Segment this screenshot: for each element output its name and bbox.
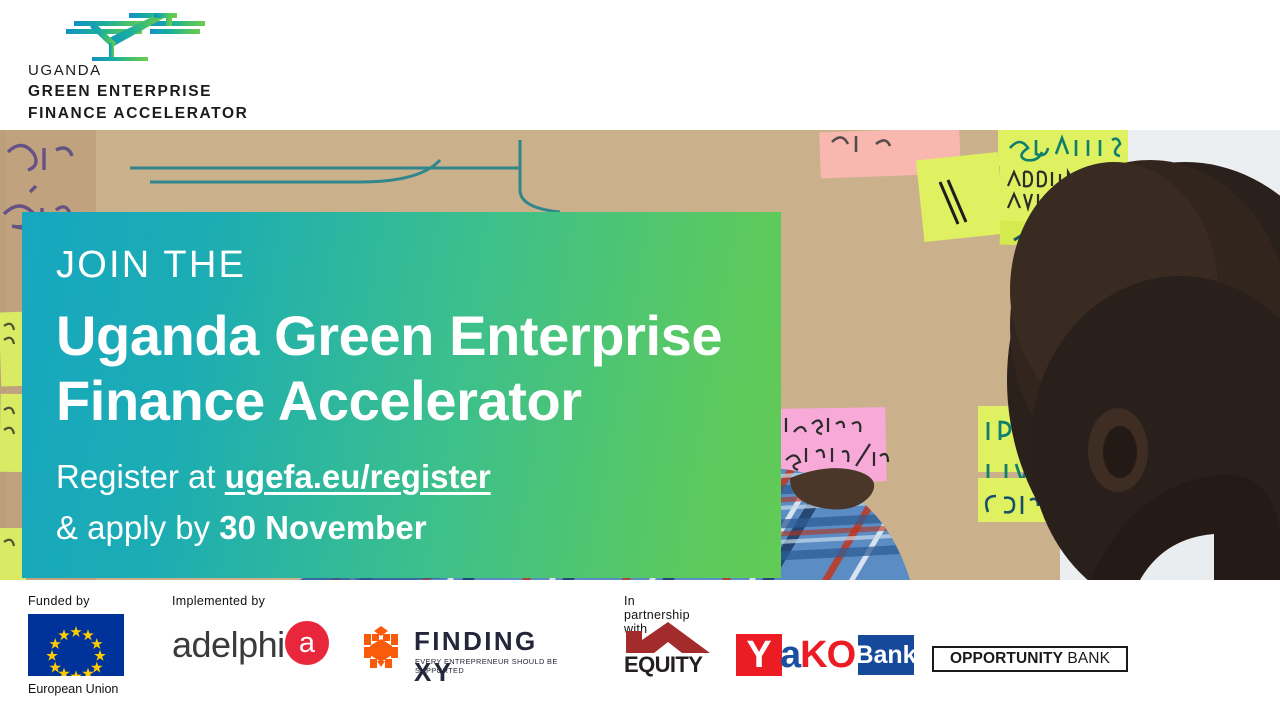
opportunity-bank-wordmark: OPPORTUNITY BANK (950, 650, 1110, 668)
apply-deadline-date: 30 November (219, 509, 426, 546)
opportunity-bank-logo[interactable]: OPPORTUNITY BANK (932, 646, 1128, 672)
panel-eyebrow: JOIN THE (56, 246, 747, 286)
register-prefix: Register at (56, 458, 225, 495)
finding-xy-cube-icon (358, 625, 404, 671)
equity-wordmark: EQUITY (624, 652, 702, 678)
yako-letter-y: Y (736, 634, 782, 676)
finding-xy-logo[interactable]: FINDING XY EVERY ENTREPRENEUR SHOULD BE … (358, 622, 573, 674)
ugefa-wordmark: UGANDA GREEN ENTERPRISE FINANCE ACCELERA… (28, 60, 260, 125)
equity-roof-icon (624, 620, 712, 653)
apply-prefix: & apply by (56, 509, 219, 546)
adelphi-badge-icon: a (285, 621, 329, 665)
funded-by-label: Funded by (28, 594, 168, 608)
opportunity-light-word: BANK (1063, 650, 1110, 667)
yako-letter-k: K (800, 634, 826, 676)
yako-bank-logo[interactable]: Y aKO Bank (736, 634, 914, 676)
yako-bank-word: Bank (858, 635, 914, 675)
campaign-overlay-panel: JOIN THE Uganda Green Enterprise Finance… (22, 212, 781, 578)
yako-red-block: Y (736, 634, 782, 676)
logo-line-green-enterprise: GREEN ENTERPRISE (28, 81, 260, 103)
register-url-link[interactable]: ugefa.eu/register (225, 458, 491, 495)
ugefa-tree-logo-icon (54, 12, 214, 64)
adelphi-wordmark: adelphi (172, 624, 285, 666)
yako-letters: aKO (780, 634, 855, 676)
panel-headline-line-1: Uganda Green Enterprise (56, 300, 747, 373)
adelphi-logo[interactable]: adelphi a (172, 620, 344, 668)
yako-letter-a: a (780, 634, 800, 676)
yako-blue-block: Bank (858, 635, 914, 675)
funded-by-block: Funded by European Uni (28, 594, 168, 608)
eu-stars (28, 614, 124, 676)
apply-deadline-line: & apply by 30 November (56, 504, 747, 553)
logo-line-finance-accelerator: FINANCE ACCELERATOR (28, 103, 260, 125)
equity-bank-logo[interactable]: EQUITY (624, 620, 712, 676)
implemented-by-block: Implemented by adelphi a (172, 594, 265, 608)
yako-letter-o: O (827, 634, 856, 676)
european-union-caption: European Union (28, 682, 118, 696)
finding-xy-tagline: EVERY ENTREPRENEUR SHOULD BE SUPPORTED (415, 657, 573, 675)
panel-headline-line-2: Finance Accelerator (56, 365, 747, 438)
implemented-by-label: Implemented by (172, 594, 265, 608)
adelphi-badge-letter: a (285, 621, 329, 665)
logo-line-uganda: UGANDA (28, 60, 260, 81)
european-union-flag-icon (28, 614, 124, 676)
ugefa-logo[interactable]: UGANDA GREEN ENTERPRISE FINANCE ACCELERA… (28, 12, 258, 120)
page-header: UGANDA GREEN ENTERPRISE FINANCE ACCELERA… (0, 0, 1280, 130)
register-line: Register at ugefa.eu/register (56, 453, 747, 502)
opportunity-bold-word: OPPORTUNITY (950, 650, 1063, 667)
